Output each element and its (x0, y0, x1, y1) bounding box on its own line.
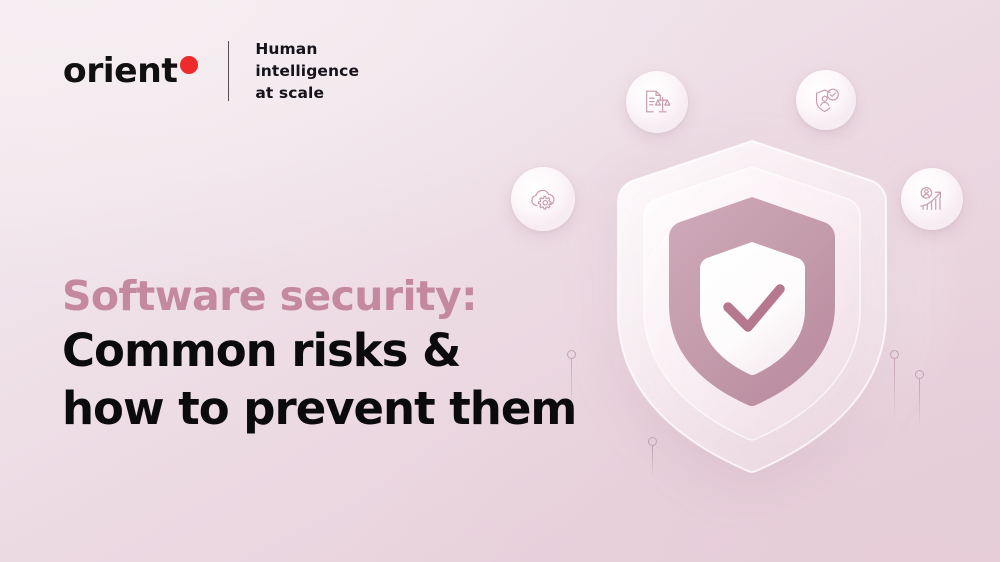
shield-user-check-icon (812, 86, 841, 115)
chip-growth[interactable] (901, 168, 963, 230)
chip-compliance[interactable] (626, 71, 688, 133)
pin-stem (919, 379, 920, 429)
orient-wordmark[interactable]: orient (64, 54, 198, 88)
chip-identity[interactable] (796, 70, 856, 130)
shield-outer-layer (604, 137, 900, 477)
pin-head (567, 350, 576, 359)
security-shield-graphic (604, 137, 900, 477)
tagline-line-1: Human (255, 38, 359, 60)
headline-line-2: how to prevent them (62, 380, 576, 438)
headline-eyebrow: Software security: (62, 272, 576, 320)
pin-marker-icon (915, 370, 924, 429)
chip-cloud[interactable] (511, 167, 575, 231)
lockup-divider (228, 41, 229, 101)
headline-block: Software security: Common risks & how to… (62, 272, 576, 438)
wordmark-text: orient (63, 54, 178, 88)
brand-lockup[interactable]: orient Human intelligence at scale (64, 38, 359, 104)
pin-head (915, 370, 924, 379)
red-dot-icon (180, 56, 198, 74)
tagline-line-3: at scale (255, 82, 359, 104)
pin-stem (571, 359, 572, 417)
growth-chart-user-icon (917, 184, 947, 214)
document-scales-icon (642, 87, 672, 117)
pin-marker-icon (567, 350, 576, 417)
cloud-gear-icon (528, 184, 558, 214)
banner-canvas: orient Human intelligence at scale Softw… (0, 0, 1000, 562)
headline-line-1: Common risks & (62, 322, 576, 380)
brand-tagline: Human intelligence at scale (255, 38, 359, 104)
tagline-line-2: intelligence (255, 60, 359, 82)
